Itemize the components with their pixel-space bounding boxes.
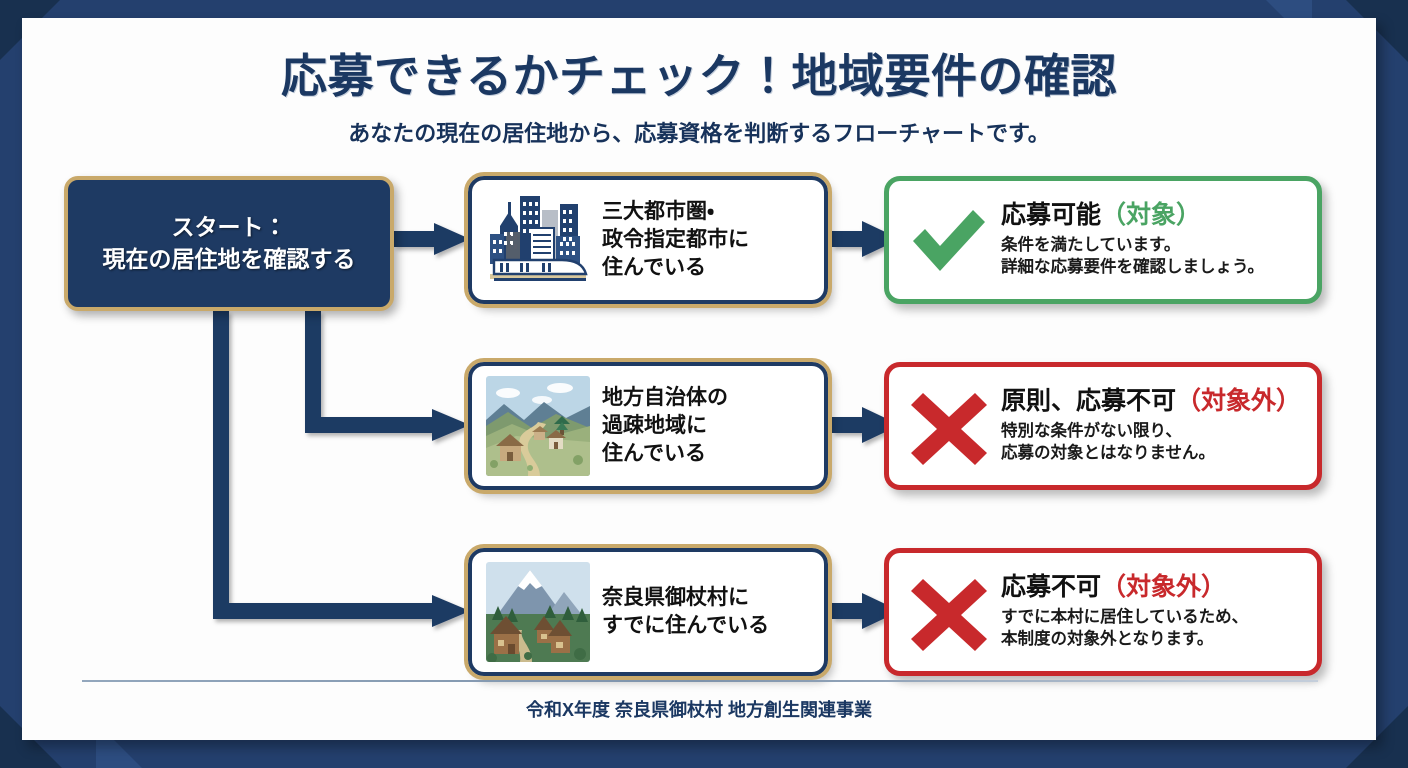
result-heading-main: 原則、応募不可 bbox=[1001, 387, 1176, 415]
result-node-ineligible[interactable]: 応募不可（対象外） すでに本村に居住しているため、 本制度の対象外となります。 bbox=[884, 548, 1322, 676]
slide-background: 応募できるかチェック！地域要件の確認 あなたの現在の居住地から、応募資格を判断す… bbox=[0, 0, 1408, 768]
condition-label-depopulated-area: 地方自治体の 過疎地域に 住んでいる bbox=[602, 384, 728, 467]
mountain-village-icon bbox=[486, 562, 590, 662]
condition-line3: 住んでいる bbox=[602, 254, 749, 282]
result-body-ineligible: 応募不可（対象外） すでに本村に居住しているため、 本制度の対象外となります。 bbox=[1001, 573, 1303, 651]
rural-village-icon bbox=[486, 376, 590, 476]
cross-mark-icon bbox=[903, 383, 995, 469]
content-card: 応募できるかチェック！地域要件の確認 あなたの現在の居住地から、応募資格を判断す… bbox=[22, 18, 1376, 740]
condition-label-metropolitan: 三大都市圏・ 政令指定都市に 住んでいる bbox=[602, 198, 749, 281]
flowchart: スタート： 現在の居住地を確認する bbox=[22, 18, 1376, 740]
cross-mark-icon bbox=[903, 569, 995, 655]
result-heading-ineligible: 応募不可（対象外） bbox=[1001, 573, 1303, 602]
result-body-eligible: 応募可能（対象） 条件を満たしています。 詳細な応募要件を確認しましょう。 bbox=[1001, 201, 1303, 279]
cityscape-shinkansen-icon bbox=[486, 190, 590, 290]
result-sub-line1: すでに本村に居住しているため、 bbox=[1001, 606, 1303, 629]
result-body-generally-ineligible: 原則、応募不可（対象外） 特別な条件がない限り、 応募の対象とはなりません。 bbox=[1001, 387, 1303, 465]
condition-line1: 三大都市圏・ bbox=[602, 198, 749, 226]
result-heading-accent: （対象外） bbox=[1176, 387, 1301, 415]
result-heading-accent: （対象外） bbox=[1101, 573, 1226, 601]
condition-line3: 住んでいる bbox=[602, 440, 728, 468]
result-node-generally-ineligible[interactable]: 原則、応募不可（対象外） 特別な条件がない限り、 応募の対象とはなりません。 bbox=[884, 362, 1322, 490]
condition-line2: 過疎地域に bbox=[602, 412, 728, 440]
result-heading-main: 応募不可 bbox=[1001, 573, 1101, 601]
condition-node-depopulated-area[interactable]: 地方自治体の 過疎地域に 住んでいる bbox=[468, 362, 828, 490]
check-mark-icon bbox=[903, 197, 995, 283]
condition-line2: 政令指定都市に bbox=[602, 226, 749, 254]
result-sub-line1: 特別な条件がない限り、 bbox=[1001, 420, 1303, 443]
result-heading-accent: （対象） bbox=[1101, 201, 1201, 229]
start-label-line1: スタート： bbox=[172, 212, 287, 243]
result-sub-line2: 応募の対象とはなりません。 bbox=[1001, 442, 1303, 465]
result-sub-line2: 本制度の対象外となります。 bbox=[1001, 628, 1303, 651]
footer-divider bbox=[82, 680, 1318, 682]
start-node[interactable]: スタート： 現在の居住地を確認する bbox=[64, 176, 394, 311]
condition-line1: 地方自治体の bbox=[602, 384, 728, 412]
result-sub-line2: 詳細な応募要件を確認しましょう。 bbox=[1001, 256, 1303, 279]
result-heading-eligible: 応募可能（対象） bbox=[1001, 201, 1303, 230]
result-node-eligible[interactable]: 応募可能（対象） 条件を満たしています。 詳細な応募要件を確認しましょう。 bbox=[884, 176, 1322, 304]
condition-line1: 奈良県御杖村に bbox=[602, 584, 769, 612]
start-label-line2: 現在の居住地を確認する bbox=[103, 244, 356, 275]
footer-note: 令和X年度 奈良県御杖村 地方創生関連事業 bbox=[22, 696, 1376, 722]
result-heading-main: 応募可能 bbox=[1001, 201, 1101, 229]
condition-node-metropolitan[interactable]: 三大都市圏・ 政令指定都市に 住んでいる bbox=[468, 176, 828, 304]
condition-label-already-resident: 奈良県御杖村に すでに住んでいる bbox=[602, 584, 769, 639]
condition-node-already-resident[interactable]: 奈良県御杖村に すでに住んでいる bbox=[468, 548, 828, 676]
condition-line2: すでに住んでいる bbox=[602, 612, 769, 640]
result-heading-generally-ineligible: 原則、応募不可（対象外） bbox=[1001, 387, 1303, 416]
result-sub-line1: 条件を満たしています。 bbox=[1001, 234, 1303, 257]
